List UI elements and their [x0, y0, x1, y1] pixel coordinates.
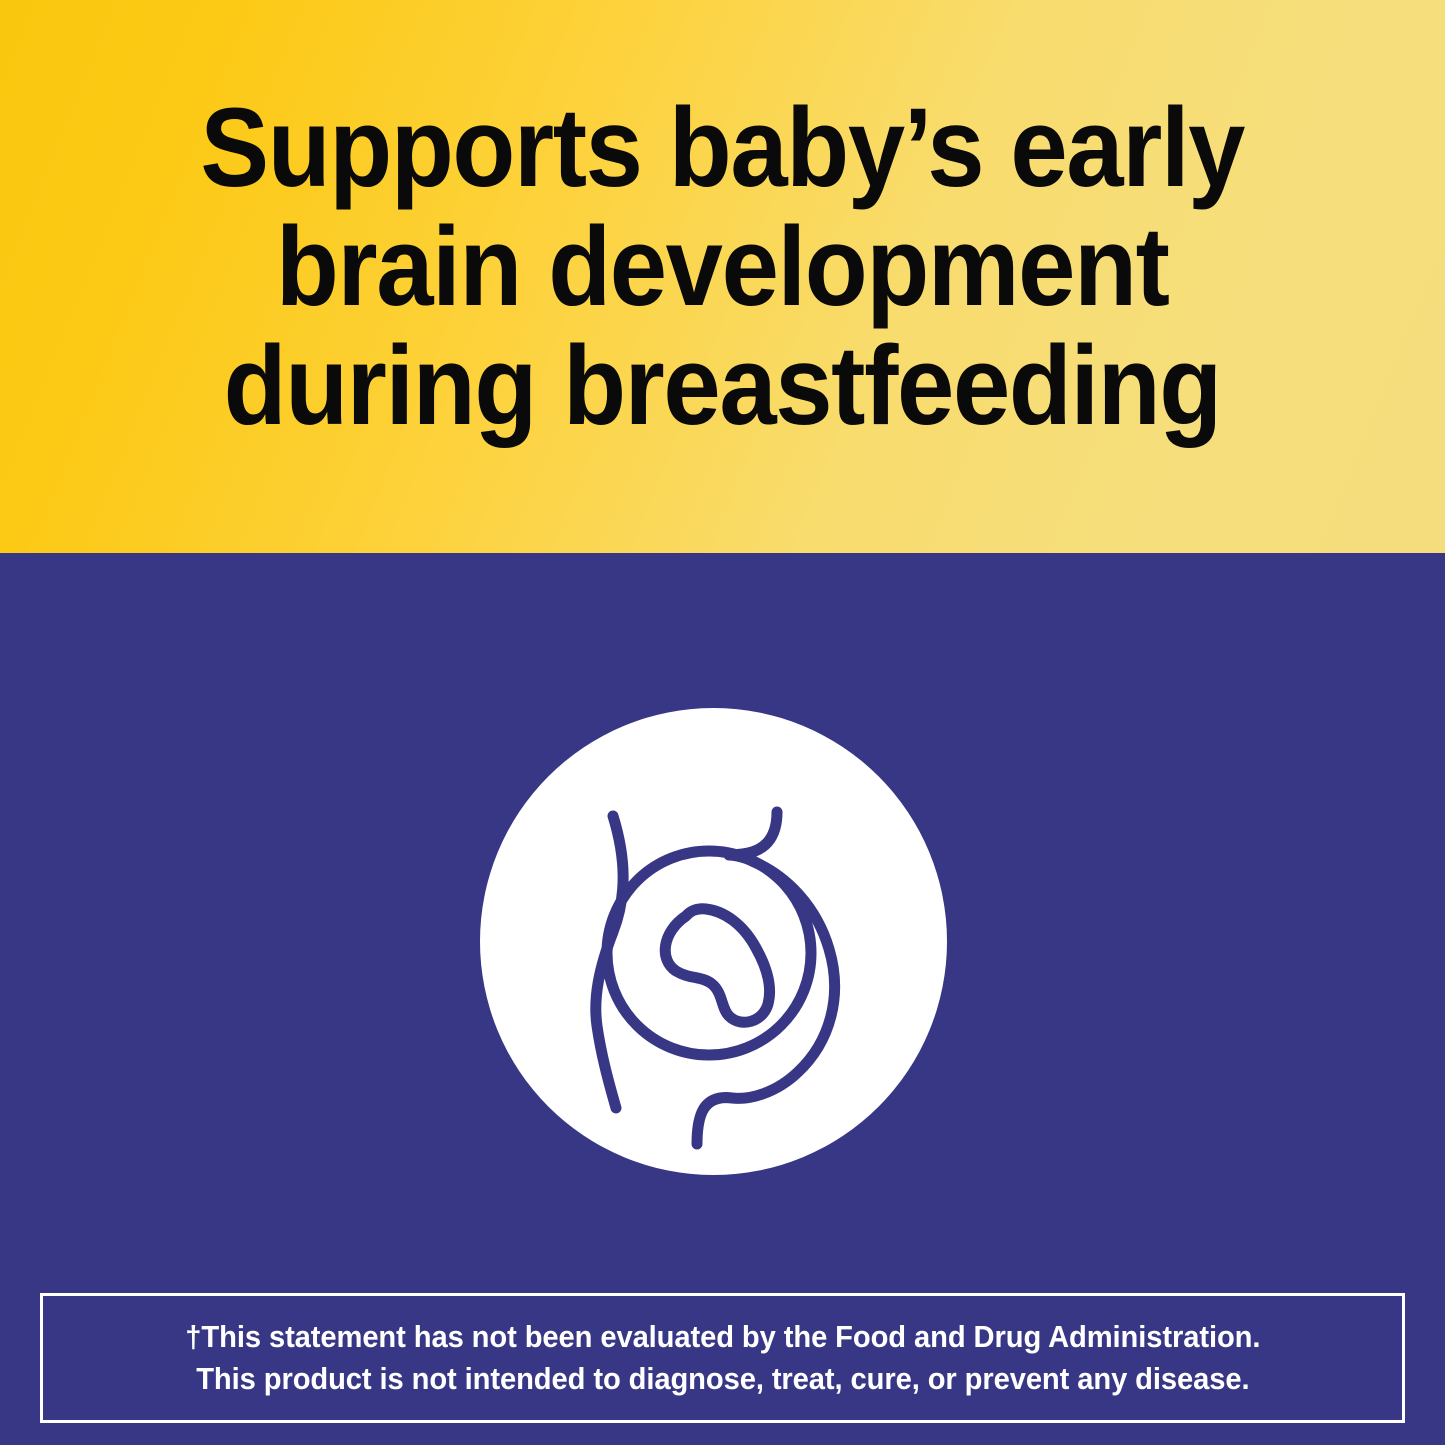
- icon-band: †This statement has not been evaluated b…: [0, 553, 1445, 1445]
- headline-band: Supports baby’s early brain development …: [0, 0, 1445, 553]
- disclaimer-box: †This statement has not been evaluated b…: [40, 1293, 1405, 1423]
- benefit-panel: Supports baby’s early brain development …: [0, 0, 1445, 1445]
- icon-badge: [480, 708, 947, 1175]
- pregnancy-belly-icon: [480, 708, 947, 1175]
- page-title: Supports baby’s early brain development …: [201, 89, 1245, 445]
- disclaimer-text: †This statement has not been evaluated b…: [185, 1316, 1260, 1399]
